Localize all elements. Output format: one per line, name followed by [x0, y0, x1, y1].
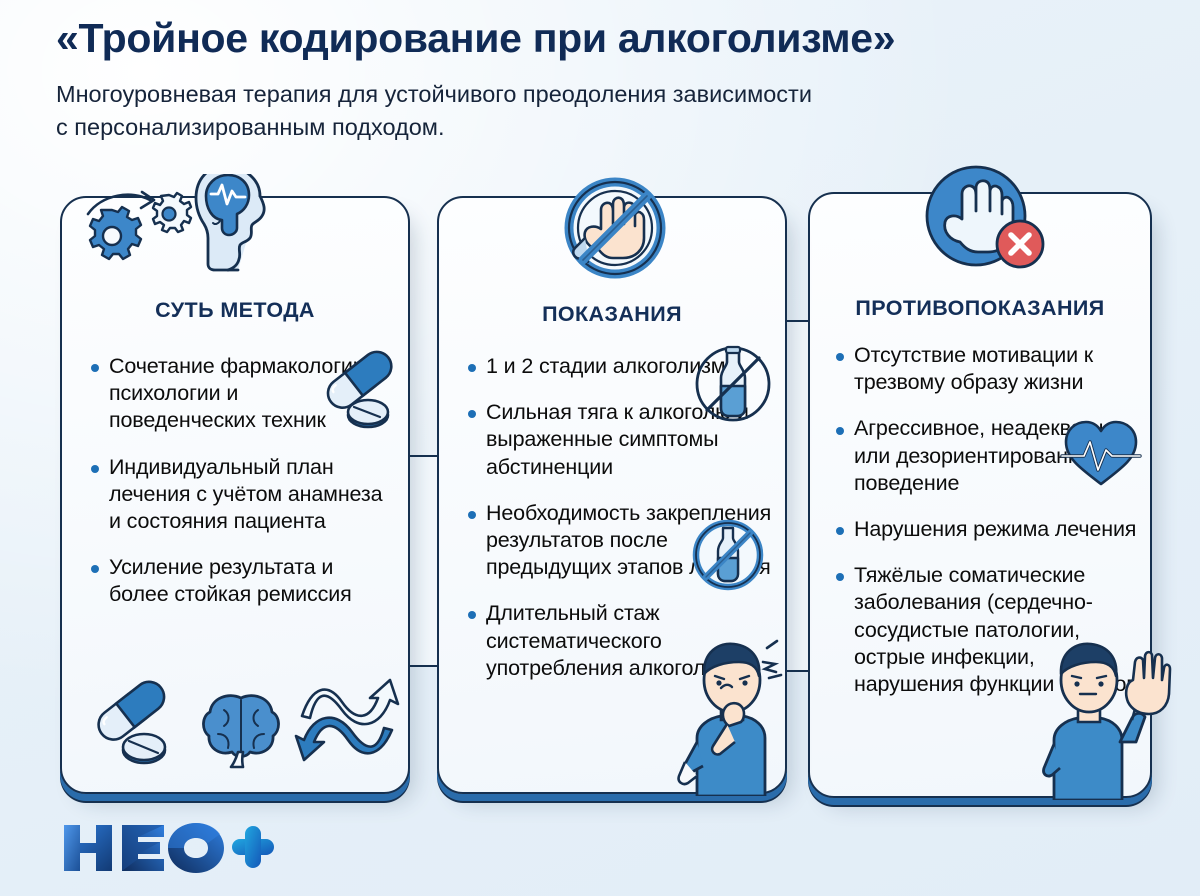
brain-head-gears-icon — [72, 174, 312, 286]
card-pokazaniya[interactable]: ПОКАЗАНИЯ 1 и 2 стадии алкоголизма Сильн… — [437, 196, 787, 794]
logo-wordmark — [60, 819, 276, 877]
pill-capsule-tablet-icon — [86, 680, 186, 776]
list-item: 1 и 2 стадии алкоголизма — [466, 353, 776, 380]
card2-bullet-list: 1 и 2 стадии алкоголизма Сильная тяга к … — [466, 353, 776, 701]
list-item: Нарушения режима лечения — [834, 516, 1146, 543]
card3-bullet-list: Отсутствие мотивации к трезвому образу ж… — [834, 342, 1146, 717]
cards-container: СУТЬ МЕТОДА Сочетание фармакологии, псих… — [0, 0, 1200, 896]
card2-title: ПОКАЗАНИЯ — [439, 302, 785, 327]
list-item: Усиление результата и более стойкая реми… — [89, 554, 385, 608]
list-item: Тяжёлые соматические заболевания (сердеч… — [834, 562, 1146, 698]
list-item: Сочетание фармакологии, психологии и пов… — [89, 353, 385, 435]
list-item: Сильная тяга к алкоголю и выраженные сим… — [466, 399, 776, 481]
brain-icon — [198, 690, 284, 770]
list-item: Длительный стаж систематического употреб… — [466, 600, 776, 682]
card1-title: СУТЬ МЕТОДА — [62, 298, 408, 323]
neo-plus-logo[interactable] — [60, 818, 276, 878]
shuffle-arrows-icon — [294, 670, 400, 768]
stop-hand-cross-icon — [910, 164, 1060, 290]
list-item: Индивидуальный план лечения с учётом ана… — [89, 454, 385, 536]
list-item: Отсутствие мотивации к трезвому образу ж… — [834, 342, 1146, 396]
list-item: Необходимость закрепления результатов по… — [466, 500, 776, 582]
list-item: Агрессивное, неадекватное или дезориенти… — [834, 415, 1146, 497]
card-protivopokazaniya[interactable]: ПРОТИВОПОКАЗАНИЯ Отсутствие мотивации к … — [808, 192, 1152, 798]
stop-hand-prohibited-icon — [545, 176, 685, 294]
card3-title: ПРОТИВОПОКАЗАНИЯ — [810, 296, 1150, 321]
card1-bullet-list: Сочетание фармакологии, психологии и пов… — [89, 353, 385, 628]
card-sut-metoda[interactable]: СУТЬ МЕТОДА Сочетание фармакологии, псих… — [60, 196, 410, 794]
